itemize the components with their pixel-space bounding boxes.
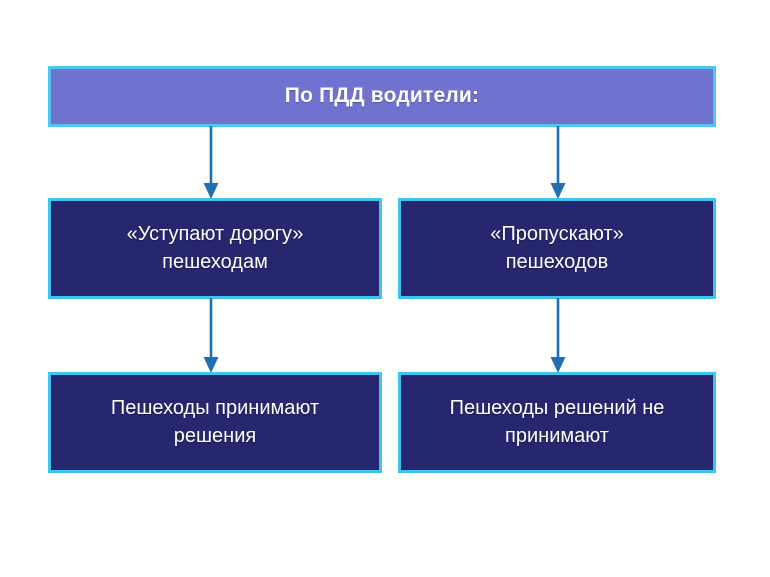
node-bot-right: Пешеходы решений не принимают [398,372,716,473]
node-mid-left-label: «Уступают дорогу» пешеходам [51,221,379,276]
node-bot-left: Пешеходы принимают решения [48,372,382,473]
node-mid-left: «Уступают дорогу» пешеходам [48,198,382,299]
flowchart-diagram: По ПДД водители: «Уступают дорогу» пешех… [0,0,770,577]
node-bot-left-label: Пешеходы принимают решения [51,395,379,450]
node-mid-right-label: «Пропускают» пешеходов [401,221,713,276]
node-header-label: По ПДД водители: [51,82,713,111]
node-mid-right: «Пропускают» пешеходов [398,198,716,299]
node-header: По ПДД водители: [48,66,716,127]
connector-header-to-mid-left-arrow-icon [198,126,224,200]
connector-mid-to-bot-right-arrow-icon [545,298,571,374]
connector-mid-to-bot-left-arrow-icon [198,298,224,374]
connector-header-to-mid-right-arrow-icon [545,126,571,200]
node-bot-right-label: Пешеходы решений не принимают [401,395,713,450]
